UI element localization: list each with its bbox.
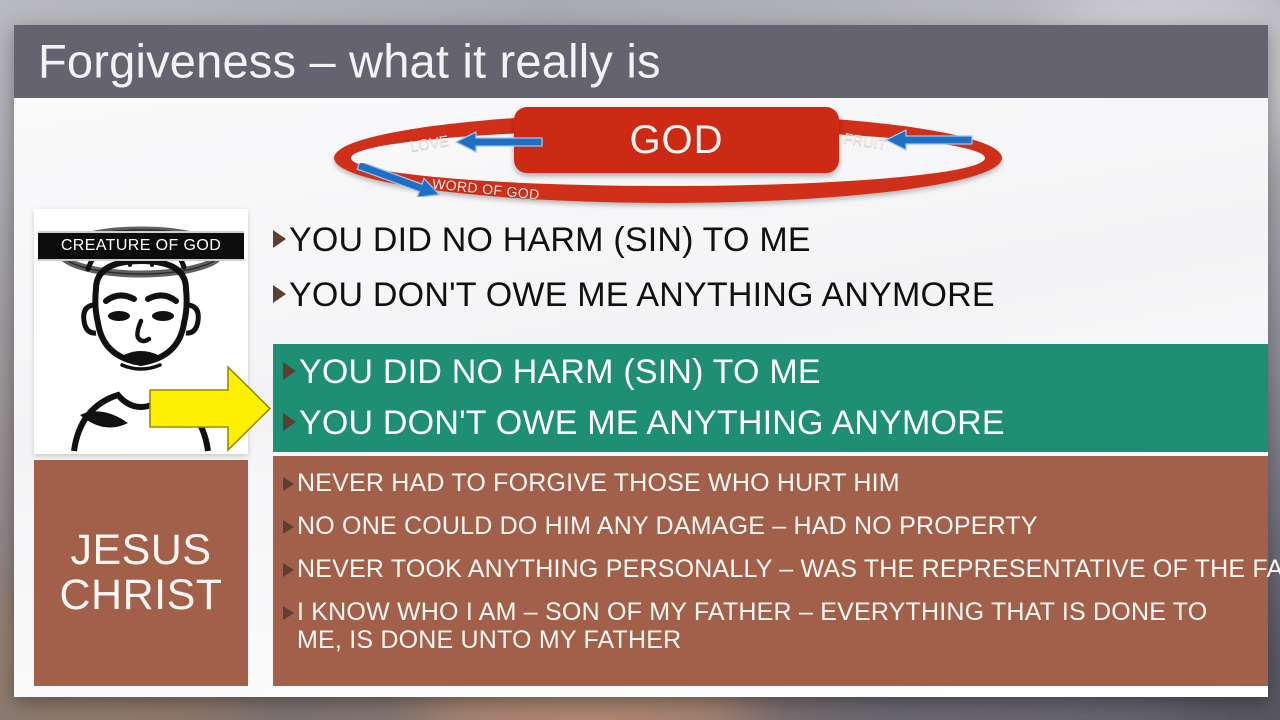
triangle-bullet-icon — [283, 413, 296, 431]
page-title: Forgiveness – what it really is — [38, 33, 661, 88]
bullet-text: NEVER HAD TO FORGIVE THOSE WHO HURT HIM — [297, 469, 900, 498]
list-item: YOU DON'T OWE ME ANYTHING ANYMORE — [273, 404, 1268, 443]
list-item: YOU DID NO HARM (SIN) TO ME — [273, 221, 1268, 260]
triangle-bullet-icon — [283, 362, 296, 380]
jesus-christ-line-2: CHRIST — [59, 573, 222, 618]
jesus-christ-line-1: JESUS — [70, 528, 211, 573]
slide-title-bar: Forgiveness – what it really is — [14, 25, 1268, 98]
bullet-text: YOU DID NO HARM (SIN) TO ME — [299, 353, 821, 392]
triangle-bullet-icon — [273, 285, 286, 303]
bullet-text: I KNOW WHO I AM – SON OF MY FATHER – EVE… — [297, 598, 1237, 654]
bullet-text: YOU DON'T OWE ME ANYTHING ANYMORE — [299, 404, 1005, 443]
bullet-text: YOU DON'T OWE ME ANYTHING ANYMORE — [289, 276, 995, 315]
list-item: NEVER HAD TO FORGIVE THOSE WHO HURT HIM — [273, 469, 1268, 498]
bullet-text: NEVER TOOK ANYTHING PERSONALLY – WAS THE… — [297, 555, 1280, 584]
brown-jesus-attributes-block: NEVER HAD TO FORGIVE THOSE WHO HURT HIM … — [273, 456, 1268, 686]
left-arrow-icon — [454, 129, 544, 155]
bullet-text: NO ONE COULD DO HIM ANY DAMAGE – HAD NO … — [297, 512, 1038, 541]
left-arrow-icon — [884, 127, 974, 153]
slide: Forgiveness – what it really is GOD LOVE… — [14, 25, 1268, 697]
list-item: I KNOW WHO I AM – SON OF MY FATHER – EVE… — [273, 598, 1268, 654]
triangle-bullet-icon — [283, 477, 294, 491]
list-item: YOU DON'T OWE ME ANYTHING ANYMORE — [273, 276, 1268, 315]
white-bullet-list: YOU DID NO HARM (SIN) TO ME YOU DON'T OW… — [273, 221, 1268, 331]
jesus-christ-label-box: JESUS CHRIST — [34, 460, 248, 686]
god-center-box: GOD — [514, 107, 839, 173]
creature-of-god-banner: CREATURE OF GOD — [38, 231, 244, 261]
triangle-bullet-icon — [283, 520, 294, 534]
right-block-arrow-icon — [148, 364, 272, 453]
bullet-text: YOU DID NO HARM (SIN) TO ME — [289, 221, 811, 260]
triangle-bullet-icon — [283, 563, 294, 577]
creature-of-god-banner-text: CREATURE OF GOD — [61, 237, 221, 255]
god-label: GOD — [629, 118, 723, 163]
list-item: YOU DID NO HARM (SIN) TO ME — [273, 353, 1268, 392]
teal-highlight-block: YOU DID NO HARM (SIN) TO ME YOU DON'T OW… — [273, 344, 1268, 452]
god-cycle-diagram: GOD LOVE FRUIT WORD OF GOD — [314, 101, 1014, 231]
presentation-stage: Forgiveness – what it really is GOD LOVE… — [0, 0, 1280, 720]
right-arrow-icon — [354, 163, 444, 197]
list-item: NO ONE COULD DO HIM ANY DAMAGE – HAD NO … — [273, 512, 1268, 541]
triangle-bullet-icon — [283, 606, 294, 620]
list-item: NEVER TOOK ANYTHING PERSONALLY – WAS THE… — [273, 555, 1268, 584]
triangle-bullet-icon — [273, 230, 286, 248]
